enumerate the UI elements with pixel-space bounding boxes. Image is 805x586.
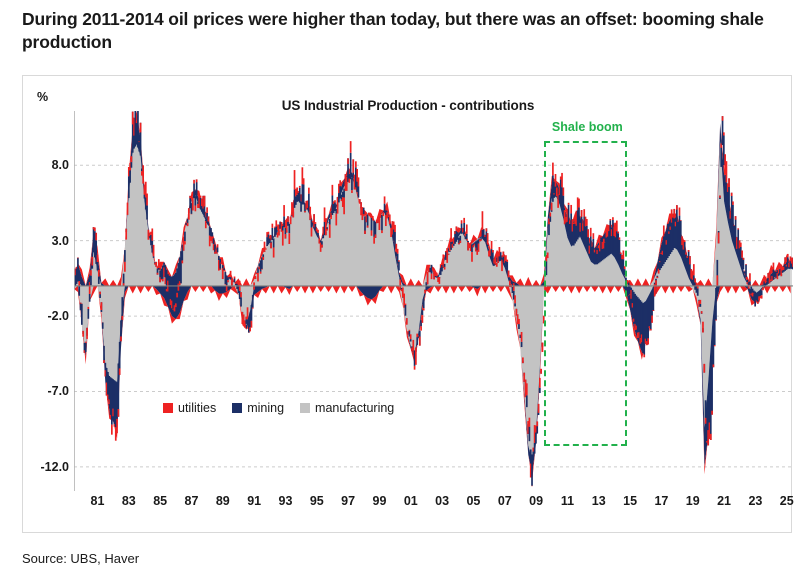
y-axis-tick-labels: 8.03.0-2.0-7.0-12.0 (23, 111, 69, 491)
x-axis-tick-label: 89 (216, 494, 230, 508)
x-axis-tick-label: 01 (404, 494, 418, 508)
chart-legend: utilitiesminingmanufacturing (163, 401, 394, 415)
x-axis-tick-label: 13 (592, 494, 606, 508)
x-axis-tick-label: 17 (654, 494, 668, 508)
x-axis-tick-label: 83 (122, 494, 136, 508)
shale-boom-label: Shale boom (552, 120, 623, 134)
y-axis-tick-label: -12.0 (25, 460, 69, 474)
legend-entry-mining: mining (232, 401, 284, 415)
page-title: During 2011-2014 oil prices were higher … (22, 8, 782, 54)
x-axis-tick-label: 09 (529, 494, 543, 508)
stacked-area-chart (74, 111, 793, 491)
x-axis-tick-label: 87 (185, 494, 199, 508)
legend-swatch-manufacturing (300, 403, 310, 413)
x-axis-tick-label: 21 (717, 494, 731, 508)
source-note: Source: UBS, Haver (22, 551, 139, 566)
legend-label: utilities (178, 401, 216, 415)
legend-label: mining (247, 401, 284, 415)
y-axis-tick-label: -7.0 (25, 384, 69, 398)
y-axis-tick-label: 3.0 (25, 234, 69, 248)
chart-card: % US Industrial Production - contributio… (22, 75, 792, 533)
x-axis-tick-label: 97 (341, 494, 355, 508)
legend-entry-utilities: utilities (163, 401, 216, 415)
series-band-utilities-negative (74, 286, 791, 481)
x-axis-tick-label: 15 (623, 494, 637, 508)
legend-entry-manufacturing: manufacturing (300, 401, 394, 415)
x-axis-tick-label: 05 (466, 494, 480, 508)
series-band-manufacturing-negative (74, 286, 791, 461)
x-axis-tick-labels: 8183858789919395979901030507091113151719… (74, 494, 793, 520)
x-axis-tick-label: 95 (310, 494, 324, 508)
x-axis-tick-label: 99 (373, 494, 387, 508)
x-axis-tick-label: 85 (153, 494, 167, 508)
x-axis-tick-label: 93 (279, 494, 293, 508)
y-axis-tick-label: 8.0 (25, 158, 69, 172)
x-axis-tick-label: 25 (780, 494, 794, 508)
x-axis-tick-label: 81 (91, 494, 105, 508)
legend-swatch-mining (232, 403, 242, 413)
y-axis-tick-label: -2.0 (25, 309, 69, 323)
legend-swatch-utilities (163, 403, 173, 413)
x-axis-tick-label: 11 (561, 494, 574, 508)
legend-label: manufacturing (315, 401, 394, 415)
x-axis-tick-label: 19 (686, 494, 700, 508)
x-axis-tick-label: 07 (498, 494, 512, 508)
plot-area (74, 111, 793, 491)
x-axis-tick-label: 91 (247, 494, 261, 508)
x-axis-tick-label: 23 (748, 494, 762, 508)
x-axis-tick-label: 03 (435, 494, 449, 508)
series-band-mining-negative (74, 286, 791, 474)
